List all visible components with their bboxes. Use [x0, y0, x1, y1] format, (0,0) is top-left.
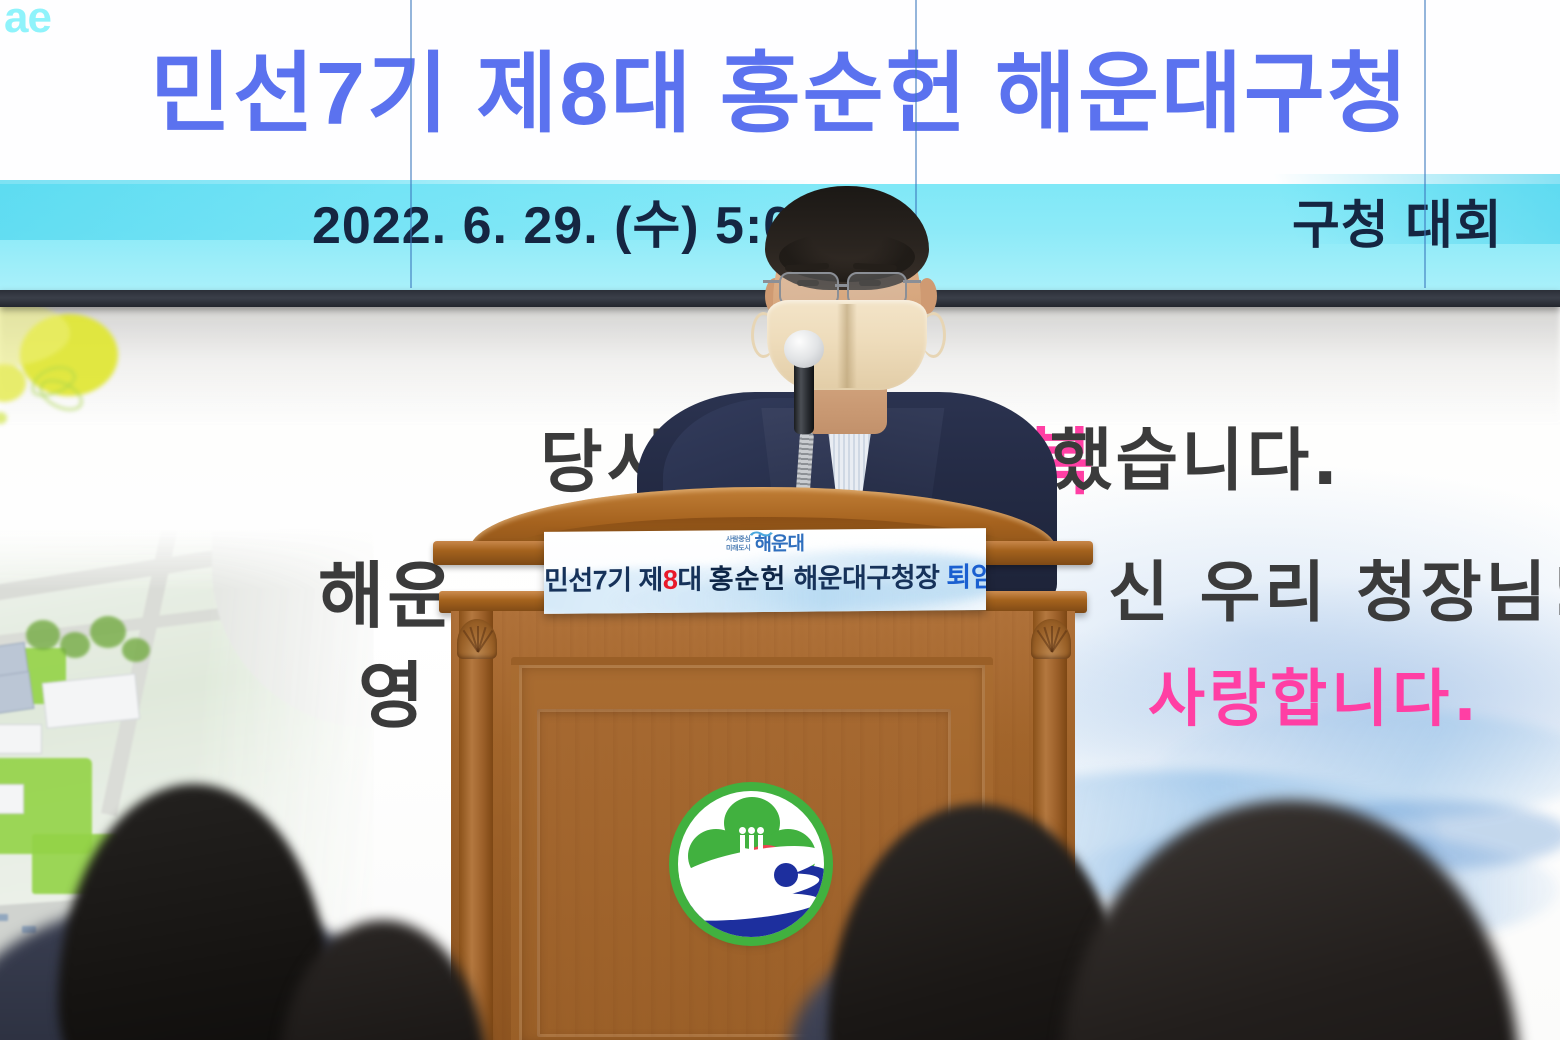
microphone-body [794, 360, 814, 434]
podium-pilaster-left [459, 611, 493, 1040]
brand-slogan-line2: 미래도시 [726, 545, 751, 552]
screen-panel-seam [1424, 0, 1426, 288]
eyeglass-bridge [835, 284, 849, 287]
eyeglass-temple-right [903, 280, 921, 283]
haeundae-gu-emblem [678, 791, 824, 937]
screen-venue: 구청 대회 [1292, 200, 1503, 252]
podium-event-sign: 사람중심 미래도시 〜해운대 민선7기 제8대 홍순헌 해운대구청장 퇴임식 [544, 528, 986, 614]
sign-part-1: 민선7기 제 [544, 565, 663, 596]
brand-slogan: 사람중심 미래도시 [726, 536, 751, 553]
sign-person-name: 홍순헌 [709, 564, 787, 595]
sign-part-3: 해운대구청장 [793, 562, 939, 593]
eyeglass-temple-left [763, 280, 781, 283]
screen-panel-seam [410, 0, 412, 288]
microphone [784, 330, 824, 450]
backdrop-text-right-1: 신 우리 청장님! [1108, 560, 1560, 626]
microphone-windscreen [784, 330, 824, 368]
sign-event-type: 퇴임식 [946, 562, 986, 593]
brand-wave-mark: 〜 [749, 528, 772, 543]
backdrop-text-left-2: 영 [358, 660, 427, 732]
screen-corner-logo: ae [4, 0, 51, 40]
backdrop-text-right-2: 사랑합니다. [1148, 668, 1481, 730]
sign-number: 8 [663, 565, 678, 595]
watercolor-splash-green [0, 300, 290, 470]
sign-part-2: 대 [677, 565, 701, 595]
brand-wordmark: 〜해운대 [755, 535, 804, 554]
photo-scene: 해운 영 당시 행복 했습니다. 신 우리 청장님! 사랑합니다. ae 민선7… [0, 0, 1560, 1040]
haeundae-brand-logo: 사람중심 미래도시 〜해운대 [544, 533, 986, 556]
sign-headline: 민선7기 제8대 홍순헌 해운대구청장 퇴임식 [544, 564, 986, 595]
backdrop-text-top-rest: 했습니다. [1050, 428, 1341, 496]
screen-title: 민선7기 제8대 홍순헌 해운대구청 [0, 50, 1560, 138]
brand-slogan-line1: 사람중심 [726, 536, 751, 543]
